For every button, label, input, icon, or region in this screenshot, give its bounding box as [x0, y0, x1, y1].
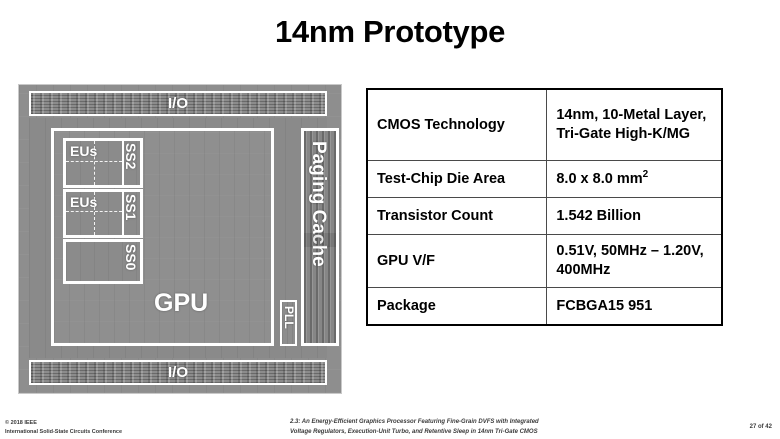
paging-cache-block: Paging Cache: [301, 128, 339, 346]
spec-value-die-area: 8.0 x 8.0 mm2: [547, 161, 722, 198]
footer-paper-title: 2.3: An Energy-Efficient Graphics Proces…: [290, 418, 690, 437]
gpu-label: GPU: [154, 291, 208, 316]
table-row: CMOS Technology 14nm, 10-Metal Layer, Tr…: [367, 89, 722, 161]
spec-param-gpu-vf: GPU V/F: [367, 235, 547, 288]
io-band-top: I/O: [29, 91, 327, 116]
spec-value-die-area-text: 8.0 x 8.0 mm: [556, 171, 642, 187]
subslice-block-ss1: EUs SS1: [63, 189, 143, 238]
page-title: 14nm Prototype: [0, 14, 780, 50]
footer-copyright: © 2018 IEEE International Solid-State Ci…: [5, 419, 122, 437]
subslice-block-ss0: SS0: [63, 239, 143, 284]
spec-param-cmos-technology: CMOS Technology: [367, 89, 547, 161]
footer-copyright-line2: International Solid-State Circuits Confe…: [5, 428, 122, 437]
eu-array-ss2: [66, 141, 124, 185]
subslice-label-ss1: SS1: [124, 194, 138, 220]
page-number: 27 of 42: [750, 424, 772, 430]
spec-value-die-area-exponent: 2: [643, 169, 649, 180]
eu-array-ss1: [66, 192, 124, 235]
paging-cache-label: Paging Cache: [309, 141, 328, 267]
footer-copyright-line1: © 2018 IEEE: [5, 419, 122, 428]
subslice-block-ss2: EUs SS2: [63, 138, 143, 188]
table-row: Transistor Count 1.542 Billion: [367, 198, 722, 235]
spec-value-cmos-technology: 14nm, 10-Metal Layer, Tri-Gate High-K/MG: [547, 89, 722, 161]
io-bottom-label: I/O: [168, 365, 188, 380]
table-row: Package FCBGA15 951: [367, 288, 722, 326]
io-band-bottom: I/O: [29, 360, 327, 385]
pll-label: PLL: [283, 306, 295, 329]
die-core-area: EUs SS2 EUs SS1 SS0 GPU PLL Paging Cache: [29, 118, 327, 358]
spec-param-die-area: Test-Chip Die Area: [367, 161, 547, 198]
spec-table: CMOS Technology 14nm, 10-Metal Layer, Tr…: [366, 88, 723, 326]
gpu-block: EUs SS2 EUs SS1 SS0 GPU: [51, 128, 274, 346]
subslice-label-ss2: SS2: [124, 143, 138, 169]
footer-paper-title-line1: 2.3: An Energy-Efficient Graphics Proces…: [290, 418, 690, 428]
io-top-label: I/O: [168, 96, 188, 111]
spec-param-package: Package: [367, 288, 547, 326]
spec-value-package: FCBGA15 951: [547, 288, 722, 326]
table-row: Test-Chip Die Area 8.0 x 8.0 mm2: [367, 161, 722, 198]
subslice-label-ss0: SS0: [124, 244, 138, 270]
spec-value-gpu-vf: 0.51V, 50MHz – 1.20V, 400MHz: [547, 235, 722, 288]
table-row: GPU V/F 0.51V, 50MHz – 1.20V, 400MHz: [367, 235, 722, 288]
spec-param-transistor-count: Transistor Count: [367, 198, 547, 235]
spec-value-transistor-count: 1.542 Billion: [547, 198, 722, 235]
pll-block: PLL: [280, 300, 297, 346]
die-photo: I/O EUs SS2 EUs SS1 SS0 GPU PLL Paging C…: [19, 85, 341, 393]
footer-paper-title-line2: Voltage Regulators, Execution-Unit Turbo…: [290, 428, 690, 438]
